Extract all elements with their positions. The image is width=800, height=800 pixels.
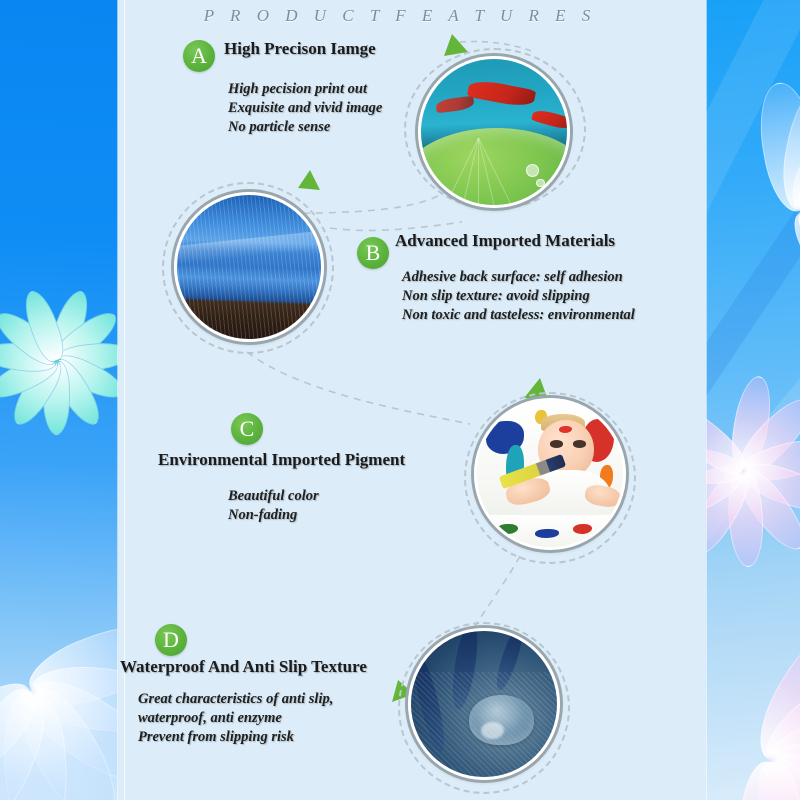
decor-flower-right-bottom (770, 760, 772, 762)
bullet-line: Beautiful color (228, 487, 319, 506)
decor-flower-left (55, 360, 57, 362)
water-droplet-photo (408, 628, 560, 780)
painting-baby-photo (474, 398, 626, 550)
bullet-line: Exquisite and vivid image (228, 99, 382, 118)
heading-a: High Precison Iamge (224, 39, 376, 59)
bullet-line: Non toxic and tasteless: environmental (402, 306, 635, 325)
heading-b: Advanced Imported Materials (395, 231, 615, 251)
bullets-b: Adhesive back surface: self adhesion Non… (402, 268, 635, 325)
page-title: P R O D U C T F E A T U R E S (0, 6, 800, 26)
blue-fabric-photo (174, 192, 324, 342)
bullet-line: Adhesive back surface: self adhesion (402, 268, 635, 287)
heading-c: Environmental Imported Pigment (158, 450, 405, 470)
badge-d: D (155, 624, 187, 656)
bullet-line: Prevent from slipping risk (138, 728, 333, 747)
panel-edge-line (124, 0, 125, 800)
bullet-line: Great characteristics of anti slip, (138, 690, 333, 709)
product-features-poster: P R O D U C T F E A T U R E S (0, 0, 800, 800)
badge-c: C (231, 413, 263, 445)
bullet-line: Non slip texture: avoid slipping (402, 287, 635, 306)
bullets-a: High pecision print out Exquisite and vi… (228, 80, 382, 137)
badge-a: A (183, 40, 215, 72)
heading-d: Waterproof And Anti Slip Texture (120, 657, 367, 677)
bullet-line: No particle sense (228, 118, 382, 137)
bullet-line: High pecision print out (228, 80, 382, 99)
bullets-d: Great characteristics of anti slip, wate… (138, 690, 333, 747)
bullets-c: Beautiful color Non-fading (228, 487, 319, 525)
bullet-line: waterproof, anti enzyme (138, 709, 333, 728)
koi-pond-photo (418, 56, 570, 208)
decor-flower-right-top (742, 470, 744, 472)
bullet-line: Non-fading (228, 506, 319, 525)
badge-b: B (357, 237, 389, 269)
decor-flower-bottom-left (30, 690, 32, 692)
